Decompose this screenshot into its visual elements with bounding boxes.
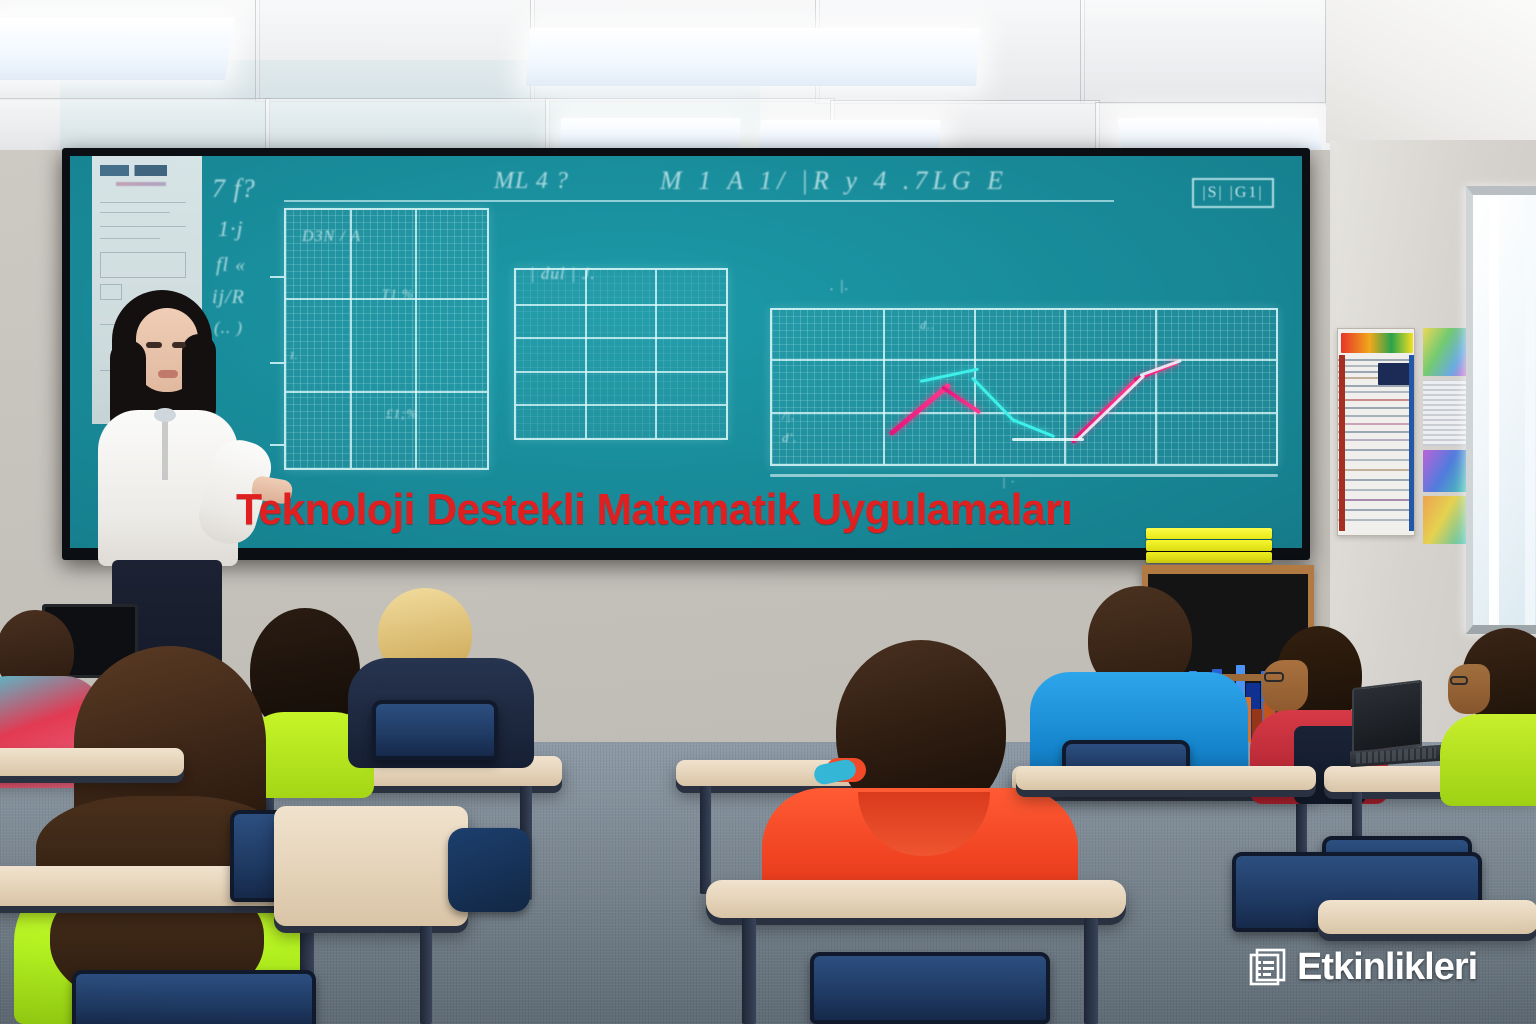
wall-poster-strip [1423,320,1467,550]
teacher-eye [146,342,162,348]
laptop-screen[interactable] [1352,680,1422,755]
board-side-panel-header [100,165,186,176]
classroom-window [1466,186,1536,634]
board-table-panel [514,268,728,440]
student-shirt [1440,714,1536,806]
backpack [448,828,530,912]
board-side-panel-accent [116,182,166,186]
student-chair [810,952,1050,1024]
student-desk [1016,766,1316,790]
board-note: 1·j [218,216,244,242]
student-right-lime [1440,628,1536,778]
ceiling-tile [1080,0,1330,104]
ceiling-light [559,118,741,150]
board-note: 7 f? [212,174,256,204]
teacher [86,290,276,610]
board-chart-panel: /|. d'. d.. [770,308,1278,466]
student-desk [0,748,184,776]
watermark: Etkinlikleri [1248,944,1477,990]
classroom-scene: 7 f? 1·j fl « ij/R (.. ) ML 4 ? M 1 A 1/… [0,0,1536,1024]
board-badge: |S| |G1| [1192,178,1274,208]
chart-series-white [1012,438,1084,441]
teacher-eye [172,342,186,348]
ceiling-light [759,120,941,150]
board-header: ML 4 ? [494,168,569,195]
glasses-icon [1264,672,1284,682]
student-face [1448,664,1490,714]
storage-bins [1146,528,1272,566]
glasses-icon [1450,676,1468,685]
board-header: | dul | J. [530,264,596,284]
teacher-mouth [158,370,178,378]
student-face [1262,660,1308,712]
ceiling-soffit [1326,0,1536,160]
ceiling [0,0,1536,160]
student-desk [1318,900,1536,934]
student-desk [274,806,468,926]
student-desk [706,880,1126,918]
board-header: M 1 A 1/ |R y 4 .7LG E [660,166,1008,196]
ceiling-light [0,18,235,80]
page-title: Teknoloji Destekli Matematik Uygulamalar… [236,487,1293,533]
student-chair [372,700,498,760]
ceiling-light [526,28,980,86]
ceiling-tile [255,0,535,102]
student-chair [72,970,316,1024]
board-grid-panel: T1 % £1;% I. [284,208,489,470]
board-note: fl « [216,254,246,277]
board-underline [284,200,1114,202]
teacher-brooch [154,408,176,422]
wall-poster [1337,328,1415,536]
document-list-icon [1248,947,1288,987]
watermark-label: Etkinlikleri [1297,947,1477,987]
board-header: D3N / A [302,228,361,246]
